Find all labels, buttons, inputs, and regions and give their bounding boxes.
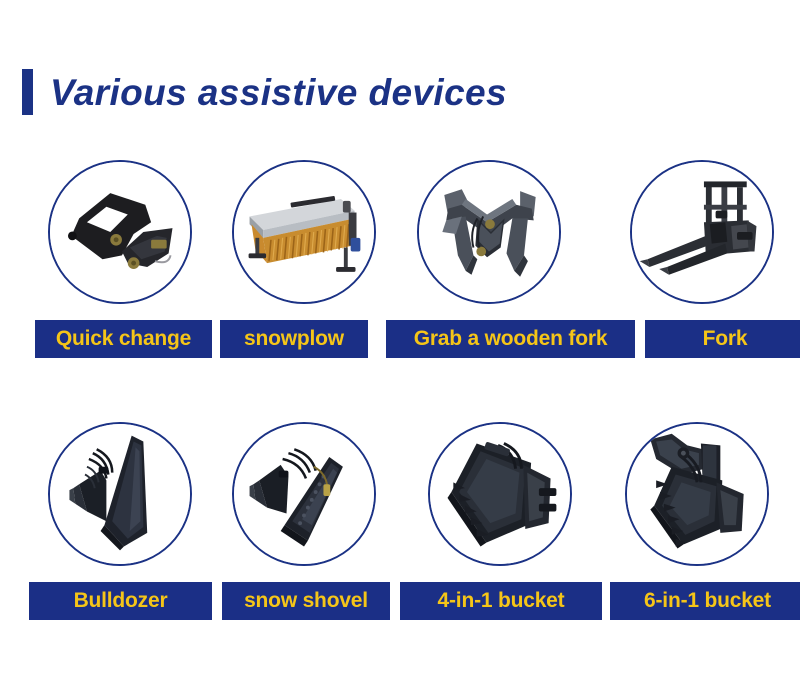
device-image-fork[interactable] (630, 160, 774, 304)
device-image-bulldozer[interactable] (48, 422, 192, 566)
device-label-snowplow[interactable]: snowplow (220, 320, 368, 358)
device-row-2: Bulldozer snow shovel 4-in-1 bucket 6-in… (0, 414, 800, 622)
device-row-1-labels: Quick change snowplow Grab a wooden fork… (0, 320, 800, 360)
device-label-6-in-1-bucket[interactable]: 6-in-1 bucket (610, 582, 800, 620)
device-row-2-labels: Bulldozer snow shovel 4-in-1 bucket 6-in… (0, 582, 800, 622)
four-in-one-bucket-icon (430, 424, 570, 564)
device-image-6-in-1-bucket[interactable] (625, 422, 769, 566)
pallet-fork-icon (632, 162, 772, 302)
device-image-quick-change[interactable] (48, 160, 192, 304)
log-grapple-fork-icon (419, 162, 559, 302)
snow-shovel-blade-icon (234, 424, 374, 564)
device-row-1: Quick change snowplow Grab a wooden fork… (0, 152, 800, 360)
device-label-grab-a-wooden-fork[interactable]: Grab a wooden fork (386, 320, 635, 358)
device-label-bulldozer[interactable]: Bulldozer (29, 582, 212, 620)
device-image-snowplow[interactable] (232, 160, 376, 304)
six-in-one-bucket-icon (627, 424, 767, 564)
quick-change-attachment-icon (50, 162, 190, 302)
page-header: Various assistive devices (22, 66, 507, 118)
device-row-2-images (0, 414, 800, 582)
page-title: Various assistive devices (50, 74, 507, 111)
device-image-4-in-1-bucket[interactable] (428, 422, 572, 566)
device-image-grab-a-wooden-fork[interactable] (417, 160, 561, 304)
device-label-fork[interactable]: Fork (645, 320, 800, 358)
bulldozer-blade-icon (50, 424, 190, 564)
device-image-snow-shovel[interactable] (232, 422, 376, 566)
device-label-snow-shovel[interactable]: snow shovel (222, 582, 390, 620)
snowplow-brush-sweeper-icon (234, 162, 374, 302)
device-row-1-images (0, 152, 800, 320)
title-accent-bar (22, 69, 33, 115)
device-label-quick-change[interactable]: Quick change (35, 320, 212, 358)
device-label-4-in-1-bucket[interactable]: 4-in-1 bucket (400, 582, 602, 620)
